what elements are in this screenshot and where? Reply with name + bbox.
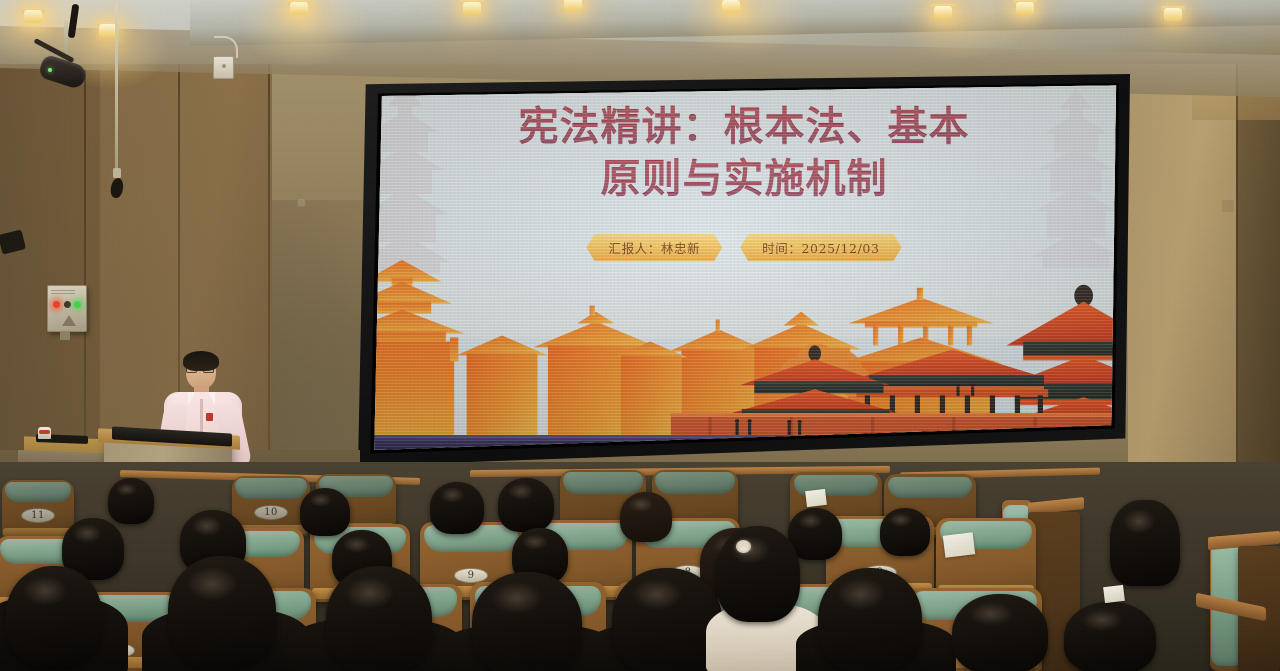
- status-led-off-icon: [64, 301, 71, 308]
- audience-member: [716, 526, 800, 622]
- hair-clip: [736, 540, 751, 553]
- audience-member: [818, 568, 922, 671]
- seat-cushion: [5, 482, 71, 502]
- handout-paper: [943, 532, 975, 557]
- microphone-hanging-rod: [115, 2, 118, 172]
- slide-title-line-2: 原则与实施机制: [358, 153, 1130, 205]
- audience-member: [108, 478, 154, 524]
- audience-member: [952, 594, 1048, 671]
- ceiling-light: [718, 0, 744, 16]
- slide-text-block: 宪法精讲：根本法、基本 原则与实施机制: [358, 101, 1130, 205]
- seat-number: 9: [454, 568, 488, 583]
- audience-member: [472, 572, 582, 671]
- audience-member: [430, 482, 484, 534]
- seat-number: 11: [21, 508, 55, 523]
- seat[interactable]: 11: [2, 480, 74, 538]
- seat-wood-trim: [3, 528, 72, 536]
- seat[interactable]: 10: [232, 476, 310, 536]
- eyeglasses-icon: [186, 367, 216, 373]
- seat-number: 10: [254, 505, 288, 520]
- ceiling-light: [560, 0, 586, 14]
- seat-cushion: [888, 477, 973, 499]
- presentation-slide: 宪法精讲：根本法、基本 原则与实施机制 汇报人：林忠新 时间：2025/12/0…: [358, 74, 1130, 466]
- wall-marking: [1222, 200, 1234, 212]
- lecture-hall-scene: 宪法精讲：根本法、基本 原则与实施机制 汇报人：林忠新 时间：2025/12/0…: [0, 0, 1280, 671]
- wall-outlet-plate: [297, 198, 306, 207]
- audience-member: [326, 566, 432, 671]
- seat-cushion: [235, 478, 307, 498]
- ceiling-light: [459, 0, 485, 18]
- presenter-collar-left: [188, 392, 195, 405]
- ceiling-light: [1160, 6, 1186, 24]
- water-cup: [38, 427, 51, 439]
- audience-member: [168, 556, 276, 668]
- control-box-label: [51, 288, 75, 294]
- handout-paper: [1103, 585, 1125, 603]
- wall-panel-seam: [268, 22, 270, 492]
- wall-speaker: [213, 56, 234, 79]
- control-box-conduit: [60, 332, 70, 340]
- audience-member: [6, 566, 102, 666]
- audience-member: [880, 508, 930, 556]
- electrical-control-box[interactable]: [47, 285, 87, 332]
- wall-spotlight: [18, 20, 96, 100]
- audience-member: [1110, 500, 1180, 586]
- hanging-microphone: [110, 168, 124, 198]
- presenter-collar-right: [208, 392, 215, 405]
- seat-cushion: [655, 472, 734, 493]
- power-led-red-icon: [53, 301, 60, 308]
- electrical-hazard-triangle-icon: [62, 315, 76, 326]
- audience-member: [300, 488, 350, 536]
- ceiling-light: [930, 4, 956, 22]
- handout-paper: [805, 489, 827, 507]
- audience-member: [498, 478, 554, 532]
- ready-led-green-icon: [74, 301, 81, 308]
- seat-cushion: [563, 472, 642, 493]
- audience-member: [620, 492, 672, 542]
- led-display-screen[interactable]: 宪法精讲：根本法、基本 原则与实施机制 汇报人：林忠新 时间：2025/12/0…: [358, 74, 1130, 466]
- audience-member: [1064, 602, 1156, 671]
- slide-title-line-1: 宪法精讲：根本法、基本: [358, 101, 1130, 153]
- screen-panel: 宪法精讲：根本法、基本 原则与实施机制 汇报人：林忠新 时间：2025/12/0…: [358, 74, 1130, 466]
- ceiling-light: [286, 0, 312, 18]
- ceiling-light: [1012, 0, 1038, 18]
- forbidden-city-skyline-illustration: [358, 238, 1130, 437]
- lapel-badge: [206, 413, 213, 421]
